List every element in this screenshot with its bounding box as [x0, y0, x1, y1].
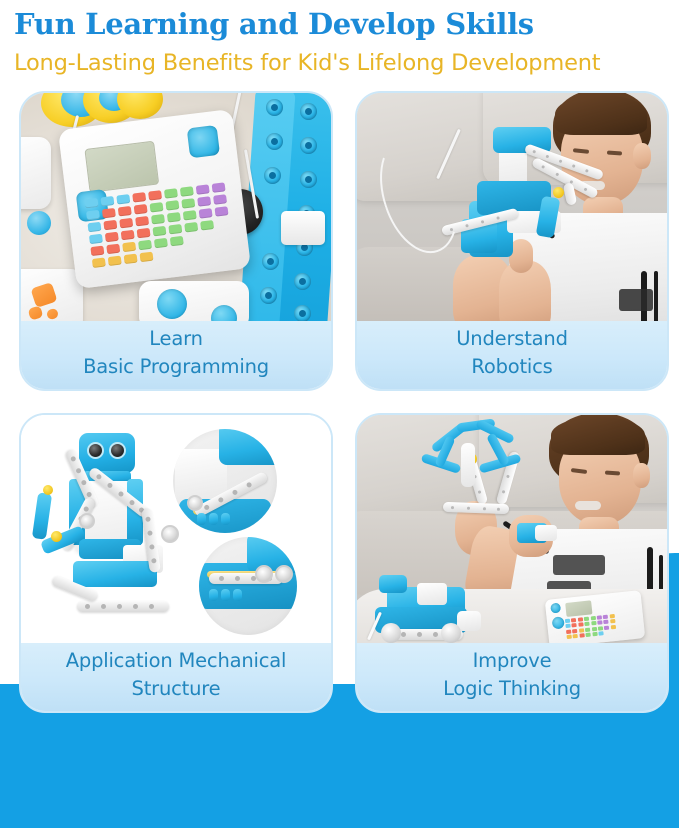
card-3-caption-line-1: Application Mechanical	[66, 647, 286, 675]
card-3-caption-line-2: Structure	[132, 675, 221, 703]
card-1-caption-line-1: Learn	[149, 325, 203, 353]
page-title: Fun Learning and Develop Skills	[14, 4, 665, 44]
card-4-caption-line-1: Improve	[473, 647, 552, 675]
card-2-caption: Understand Robotics	[357, 321, 667, 389]
card-understand-robotics[interactable]: Understand Robotics	[355, 91, 669, 391]
card-2-image	[357, 93, 667, 321]
card-4-caption: Improve Logic Thinking	[357, 643, 667, 711]
card-2-caption-line-1: Understand	[456, 325, 568, 353]
card-4-image	[357, 415, 667, 643]
card-3-caption: Application Mechanical Structure	[21, 643, 331, 711]
card-1-image	[21, 93, 331, 321]
card-improve-logic-thinking[interactable]: Improve Logic Thinking	[355, 413, 669, 713]
benefit-cards-grid: Learn Basic Programming	[0, 79, 679, 713]
studio-robot-scene	[21, 415, 331, 643]
card-4-caption-line-2: Logic Thinking	[443, 675, 581, 703]
programming-pad-scene	[21, 93, 331, 321]
boy-with-spinner-scene	[357, 415, 667, 643]
page-header: Fun Learning and Develop Skills Long-Las…	[0, 0, 679, 79]
boy-holding-robot-scene	[357, 93, 667, 321]
card-application-mechanical-structure[interactable]: Application Mechanical Structure	[19, 413, 333, 713]
card-3-image	[21, 415, 331, 643]
card-2-caption-line-2: Robotics	[471, 353, 552, 381]
card-1-caption-line-2: Basic Programming	[83, 353, 269, 381]
page-subtitle: Long-Lasting Benefits for Kid's Lifelong…	[14, 48, 654, 79]
card-learn-basic-programming[interactable]: Learn Basic Programming	[19, 91, 333, 391]
card-1-caption: Learn Basic Programming	[21, 321, 331, 389]
